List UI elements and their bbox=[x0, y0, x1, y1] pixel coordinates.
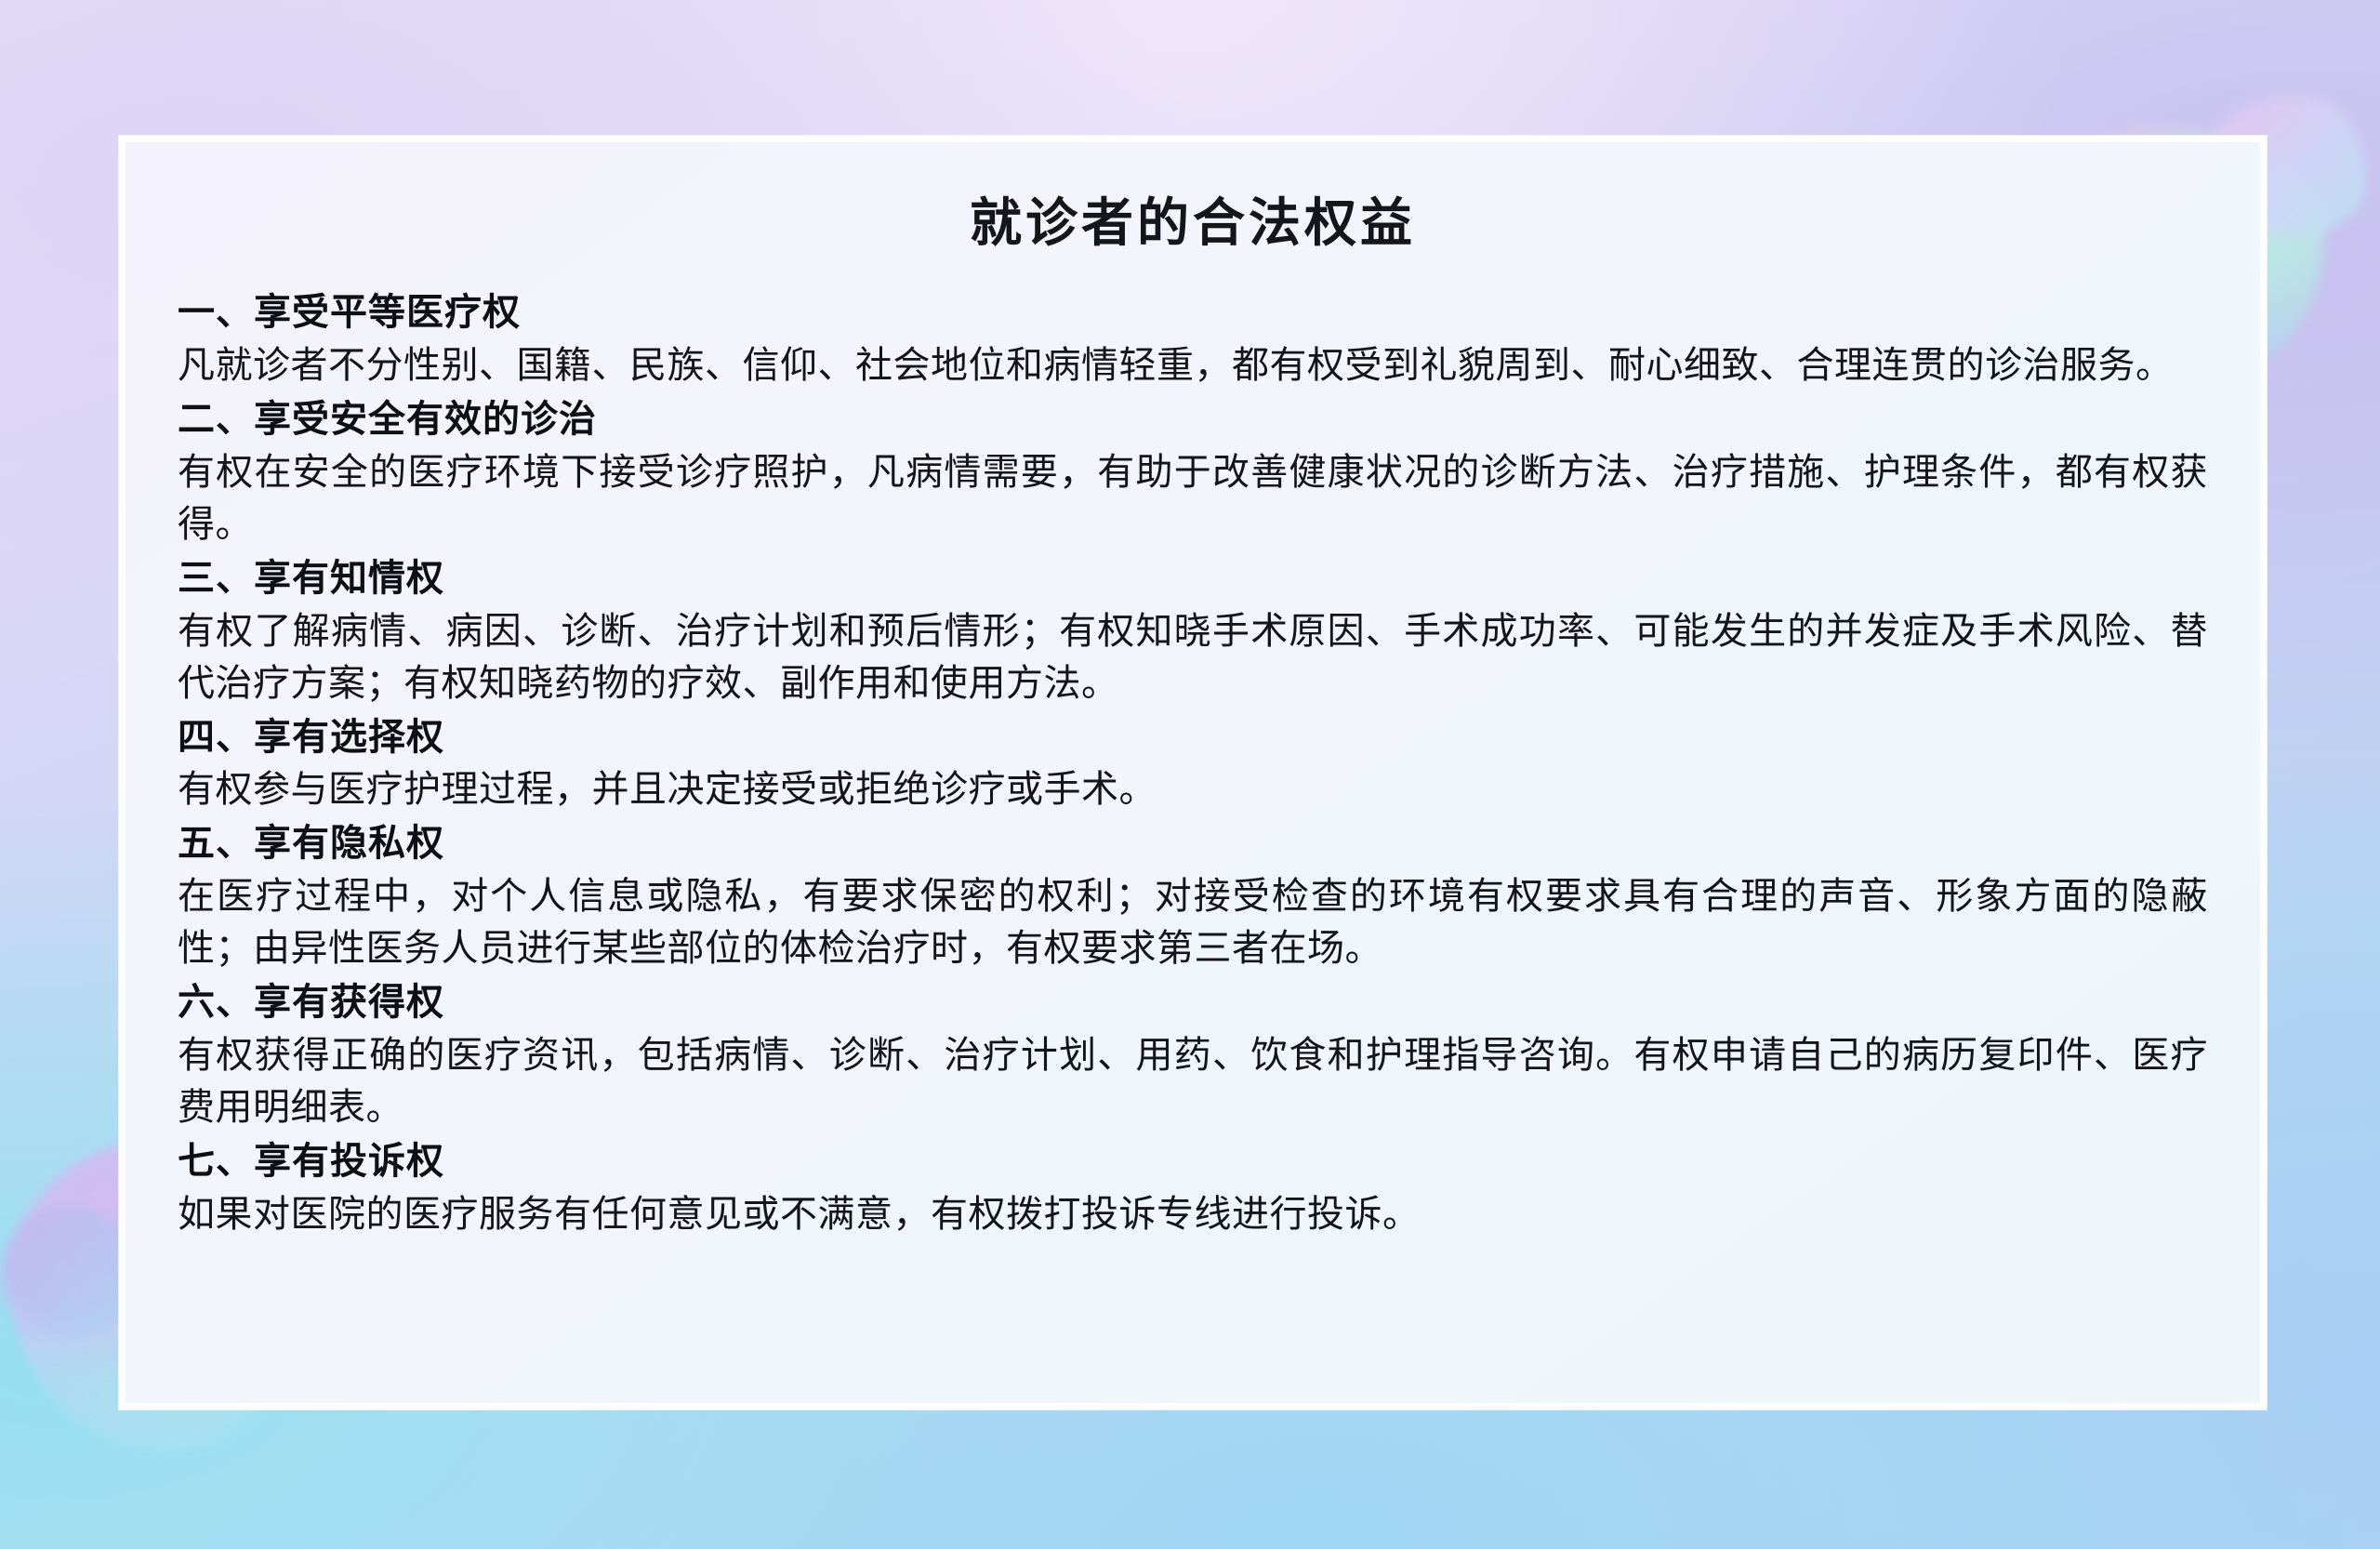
section-heading: 五、享有隐私权 bbox=[178, 817, 2208, 870]
section-heading: 三、享有知情权 bbox=[178, 552, 2208, 605]
page-title: 就诊者的合法权益 bbox=[178, 192, 2208, 255]
section-item: 六、享有获得权 有权获得正确的医疗资讯，包括病情、诊断、治疗计划、用药、饮食和护… bbox=[178, 976, 2208, 1133]
section-item: 四、享有选择权 有权参与医疗护理过程，并且决定接受或拒绝诊疗或手术。 bbox=[178, 711, 2208, 816]
section-item: 三、享有知情权 有权了解病情、病因、诊断、治疗计划和预后情形；有权知晓手术原因、… bbox=[178, 552, 2208, 709]
section-item: 二、享受安全有效的诊治 有权在安全的医疗环境下接受诊疗照护，凡病情需要，有助于改… bbox=[178, 393, 2208, 550]
section-body: 有权获得正确的医疗资讯，包括病情、诊断、治疗计划、用药、饮食和护理指导咨询。有权… bbox=[178, 1029, 2208, 1133]
section-heading: 七、享有投诉权 bbox=[178, 1135, 2208, 1188]
section-body: 有权在安全的医疗环境下接受诊疗照护，凡病情需要，有助于改善健康状况的诊断方法、治… bbox=[178, 446, 2208, 550]
section-heading: 六、享有获得权 bbox=[178, 976, 2208, 1029]
content-card-inner: 就诊者的合法权益 一、享受平等医疗权 凡就诊者不分性别、国籍、民族、信仰、社会地… bbox=[126, 142, 2260, 1403]
section-item: 七、享有投诉权 如果对医院的医疗服务有任何意见或不满意，有权拨打投诉专线进行投诉… bbox=[178, 1135, 2208, 1240]
content-card: 就诊者的合法权益 一、享受平等医疗权 凡就诊者不分性别、国籍、民族、信仰、社会地… bbox=[119, 136, 2267, 1410]
section-item: 五、享有隐私权 在医疗过程中，对个人信息或隐私，有要求保密的权利；对接受检查的环… bbox=[178, 817, 2208, 974]
section-heading: 四、享有选择权 bbox=[178, 711, 2208, 764]
section-body: 在医疗过程中，对个人信息或隐私，有要求保密的权利；对接受检查的环境有权要求具有合… bbox=[178, 870, 2208, 974]
section-body: 有权了解病情、病因、诊断、治疗计划和预后情形；有权知晓手术原因、手术成功率、可能… bbox=[178, 605, 2208, 709]
section-body: 有权参与医疗护理过程，并且决定接受或拒绝诊疗或手术。 bbox=[178, 763, 2208, 815]
section-item: 一、享受平等医疗权 凡就诊者不分性别、国籍、民族、信仰、社会地位和病情轻重，都有… bbox=[178, 286, 2208, 391]
section-body: 凡就诊者不分性别、国籍、民族、信仰、社会地位和病情轻重，都有权受到礼貌周到、耐心… bbox=[178, 339, 2208, 391]
section-heading: 一、享受平等医疗权 bbox=[178, 286, 2208, 339]
section-heading: 二、享受安全有效的诊治 bbox=[178, 393, 2208, 446]
section-body: 如果对医院的医疗服务有任何意见或不满意，有权拨打投诉专线进行投诉。 bbox=[178, 1188, 2208, 1240]
